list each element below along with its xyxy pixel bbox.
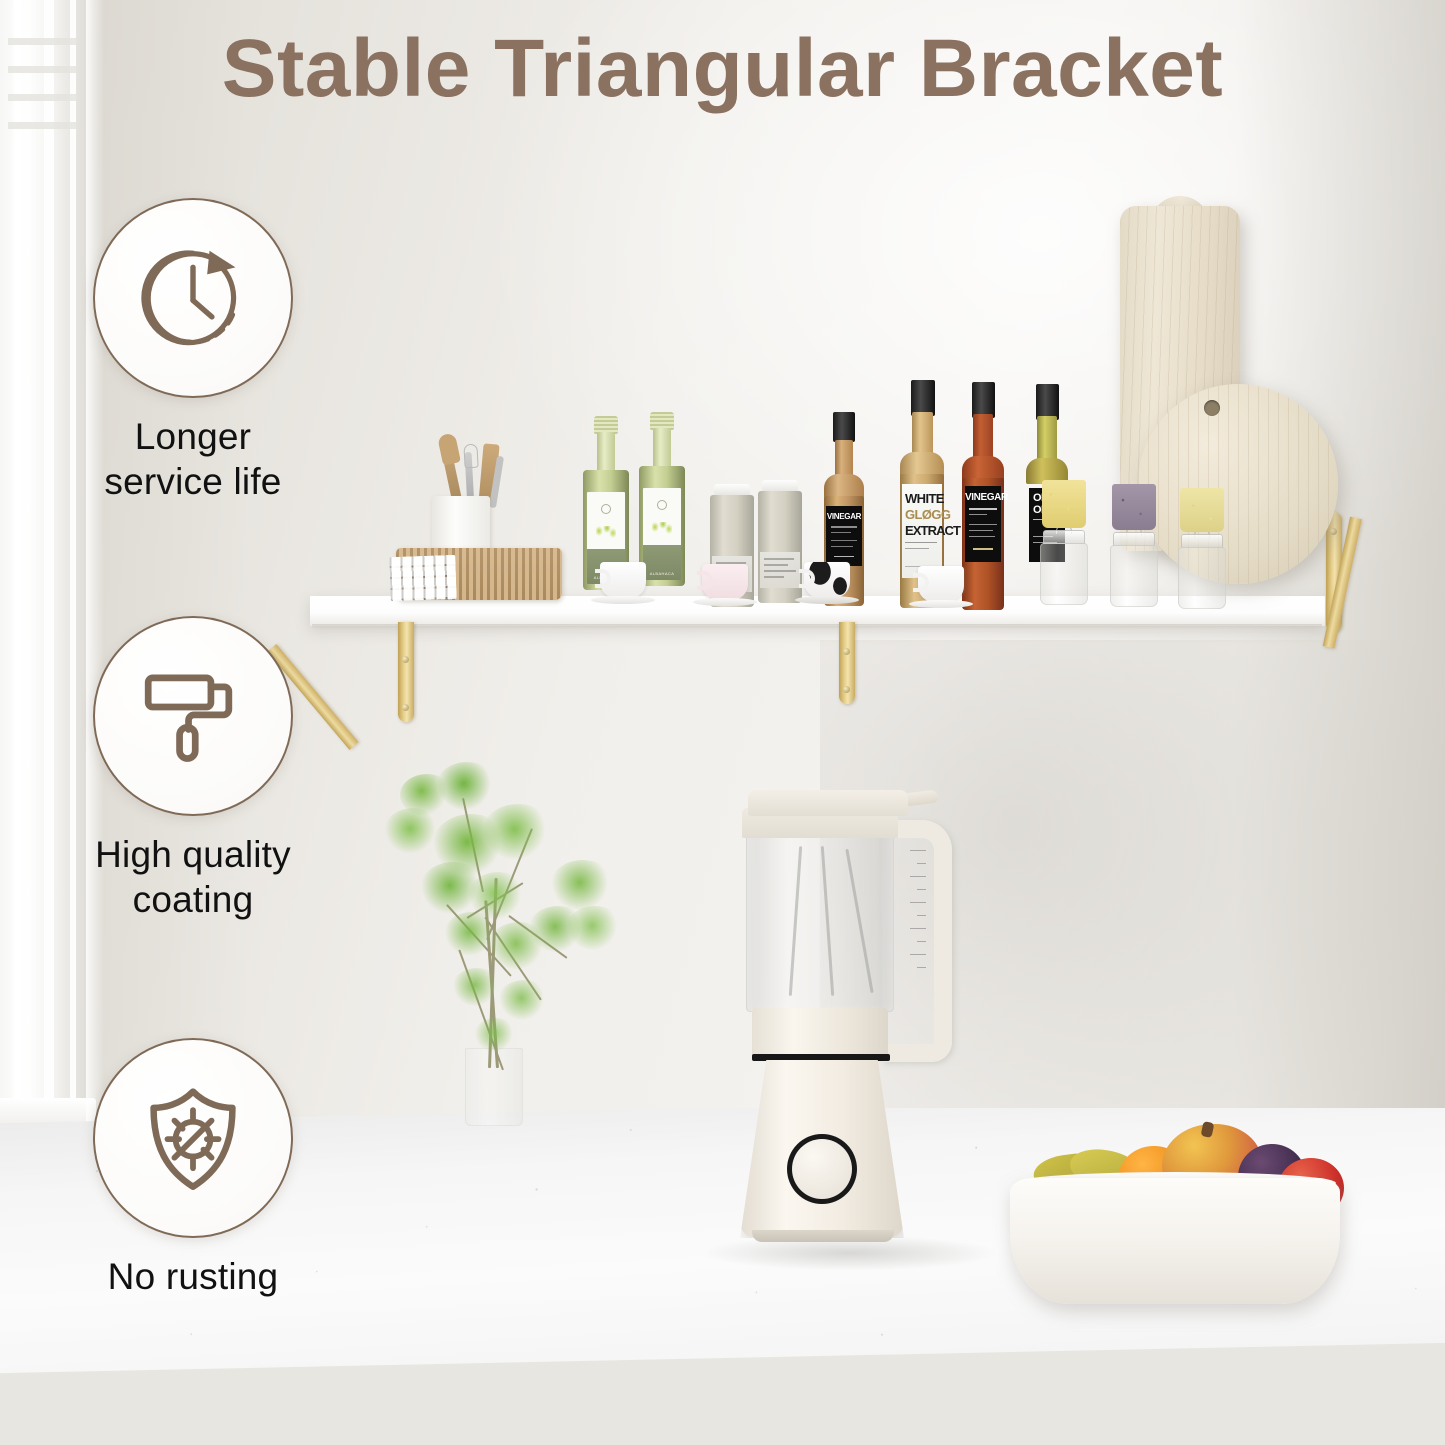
shield-no-rust-icon — [135, 1080, 251, 1196]
bottle-cap — [911, 380, 935, 416]
blender-black-ring — [752, 1054, 890, 1061]
feature-longer-service-life: Longer service life — [78, 198, 308, 504]
saucer — [693, 598, 757, 606]
feature-label-line1: No rusting — [78, 1254, 308, 1299]
paint-roller-icon — [137, 660, 249, 772]
feature-badge — [93, 1038, 293, 1238]
fruit-bowl — [1010, 1120, 1340, 1305]
jar-contents — [1112, 484, 1156, 530]
bottle-label — [760, 552, 800, 588]
jar-lid — [1043, 530, 1085, 544]
window-mullion — [44, 0, 54, 1140]
glass-vase — [465, 1048, 523, 1126]
bottle-label: VINEGAR — [826, 506, 862, 566]
feature-label-line1: Longer — [78, 414, 308, 459]
window-glass-edge — [86, 0, 104, 1150]
window-mullion — [14, 0, 21, 1140]
feature-label-line2: service life — [78, 459, 308, 504]
jar-lid — [1113, 532, 1155, 546]
bottle-label-text: VINEGAR — [965, 492, 1001, 503]
jar-contents — [1042, 480, 1086, 528]
bottle-label: VINEGAR — [965, 486, 1001, 562]
shelf-bracket-right — [1326, 512, 1376, 642]
blender-lid — [748, 790, 908, 816]
feature-label-line1: High quality — [78, 832, 308, 877]
bottle-label-text: ALBAHACA — [643, 571, 681, 576]
glogg-line-2: GLØGG — [905, 508, 950, 521]
bottle-label-text: VINEGAR — [826, 512, 862, 521]
shelf-bracket-left — [350, 622, 430, 732]
glogg-line-1: WHITE — [905, 492, 944, 505]
blender-dial[interactable] — [792, 1139, 852, 1199]
jar-lid — [1181, 534, 1223, 548]
window-shutter — [0, 0, 92, 1140]
jar-contents — [1180, 488, 1224, 532]
blender — [730, 790, 950, 1260]
glogg-line-3: EXTRACT — [905, 524, 960, 537]
product-feature-image: ALBAHACA ALBAHACA VINEGAR — [0, 0, 1445, 1445]
cutting-board-round — [1138, 384, 1338, 584]
shelf-bracket-center — [836, 622, 866, 712]
saucer — [909, 600, 973, 608]
board-hang-hole — [1204, 400, 1220, 416]
page-title: Stable Triangular Bracket — [0, 22, 1445, 116]
saucer — [591, 596, 655, 604]
feature-badge — [93, 616, 293, 816]
shelf-underside-shadow — [312, 624, 1322, 629]
bottle-cap — [833, 412, 855, 442]
feature-high-quality-coating: High quality coating — [78, 616, 308, 922]
feature-no-rusting: No rusting — [78, 1038, 308, 1299]
bowl-body — [1010, 1178, 1340, 1304]
blender-pitcher — [746, 812, 894, 1012]
folded-towel — [389, 555, 456, 601]
clock-arrow-icon — [134, 239, 252, 357]
feature-badge — [93, 198, 293, 398]
blender-collar — [752, 1008, 888, 1060]
bottle-cap — [972, 382, 995, 418]
feature-label-line2: coating — [78, 877, 308, 922]
blender-measurement-scale — [904, 850, 926, 980]
blender-foot — [752, 1230, 894, 1242]
bottle-label: WHITE GLØGG EXTRACT — [902, 484, 942, 578]
saucer — [795, 596, 859, 604]
window-mullion — [70, 0, 76, 1140]
plant-branches — [370, 760, 640, 1120]
bottle-cap — [1036, 384, 1059, 420]
bottle-label: ALBAHACA — [643, 488, 681, 580]
